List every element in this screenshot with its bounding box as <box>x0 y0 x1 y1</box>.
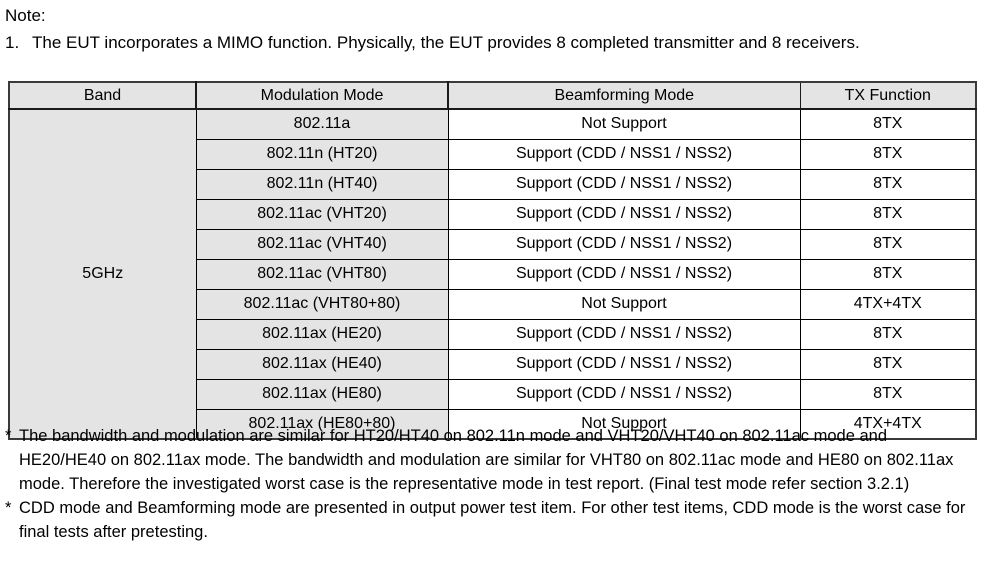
footnote-text: CDD mode and Beamforming mode are presen… <box>19 496 975 544</box>
beamforming-cell: Support (CDD / NSS1 / NSS2) <box>448 229 800 259</box>
footnote-text: The bandwidth and modulation are similar… <box>19 424 975 496</box>
table-header: Band Modulation Mode Beamforming Mode TX… <box>9 82 976 109</box>
table-body: 5GHz 802.11a Not Support 8TX 802.11n (HT… <box>9 109 976 439</box>
beamforming-cell: Not Support <box>448 289 800 319</box>
footnote-item: * CDD mode and Beamforming mode are pres… <box>5 496 977 544</box>
tx-function-cell: 8TX <box>800 109 976 139</box>
tx-function-cell: 8TX <box>800 259 976 289</box>
note-heading: Note: <box>5 4 980 28</box>
beamforming-cell: Support (CDD / NSS1 / NSS2) <box>448 259 800 289</box>
beamforming-cell: Support (CDD / NSS1 / NSS2) <box>448 139 800 169</box>
beamforming-cell: Support (CDD / NSS1 / NSS2) <box>448 169 800 199</box>
table-header-row: Band Modulation Mode Beamforming Mode TX… <box>9 82 976 109</box>
note-block: Note: 1. The EUT incorporates a MIMO fun… <box>5 4 980 55</box>
column-header-band: Band <box>9 82 196 109</box>
modulation-cell: 802.11n (HT20) <box>196 139 448 169</box>
tx-function-cell: 8TX <box>800 229 976 259</box>
beamforming-cell: Support (CDD / NSS1 / NSS2) <box>448 199 800 229</box>
table-row: 5GHz 802.11a Not Support 8TX <box>9 109 976 139</box>
tx-function-cell: 8TX <box>800 139 976 169</box>
note-item-text: The EUT incorporates a MIMO function. Ph… <box>32 30 947 55</box>
beamforming-cell: Support (CDD / NSS1 / NSS2) <box>448 319 800 349</box>
tx-function-cell: 4TX+4TX <box>800 289 976 319</box>
modulation-cell: 802.11ax (HE20) <box>196 319 448 349</box>
tx-function-cell: 8TX <box>800 169 976 199</box>
beamforming-cell: Support (CDD / NSS1 / NSS2) <box>448 349 800 379</box>
column-header-tx-function: TX Function <box>800 82 976 109</box>
beamforming-cell: Not Support <box>448 109 800 139</box>
modulation-cell: 802.11ax (HE80) <box>196 379 448 409</box>
modulation-cell: 802.11ac (VHT20) <box>196 199 448 229</box>
footnote-marker: * <box>5 424 19 448</box>
modulation-cell: 802.11ac (VHT80+80) <box>196 289 448 319</box>
modulation-cell: 802.11ac (VHT40) <box>196 229 448 259</box>
footnote-marker: * <box>5 496 19 520</box>
modulation-cell: 802.11ac (VHT80) <box>196 259 448 289</box>
modulation-cell: 802.11a <box>196 109 448 139</box>
tx-function-cell: 8TX <box>800 349 976 379</box>
tx-function-cell: 8TX <box>800 379 976 409</box>
note-list-item: 1. The EUT incorporates a MIMO function.… <box>5 30 980 55</box>
footnote-item: * The bandwidth and modulation are simil… <box>5 424 977 496</box>
modulation-cell: 802.11ax (HE40) <box>196 349 448 379</box>
beamforming-cell: Support (CDD / NSS1 / NSS2) <box>448 379 800 409</box>
band-cell-5ghz: 5GHz <box>9 109 196 439</box>
mimo-spec-table: Band Modulation Mode Beamforming Mode TX… <box>8 81 977 440</box>
footnotes-block: * The bandwidth and modulation are simil… <box>5 424 977 544</box>
tx-function-cell: 8TX <box>800 199 976 229</box>
column-header-modulation: Modulation Mode <box>196 82 448 109</box>
column-header-beamforming: Beamforming Mode <box>448 82 800 109</box>
tx-function-cell: 8TX <box>800 319 976 349</box>
note-item-number: 1. <box>5 30 32 55</box>
mimo-spec-table-wrapper: Band Modulation Mode Beamforming Mode TX… <box>8 81 977 440</box>
modulation-cell: 802.11n (HT40) <box>196 169 448 199</box>
document-page: Note: 1. The EUT incorporates a MIMO fun… <box>0 0 985 574</box>
